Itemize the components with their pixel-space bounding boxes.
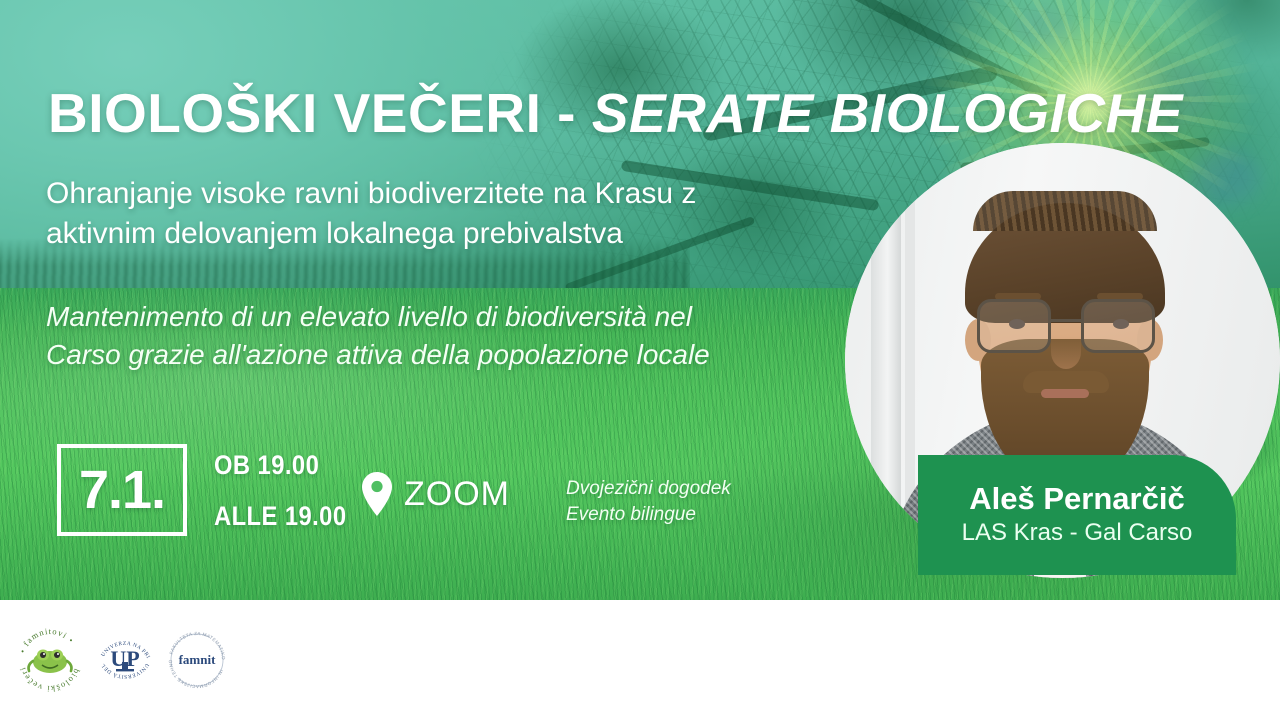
subtitle-slovenian-line-2: aktivnim delovanjem lokalnega prebivalst… — [46, 214, 846, 254]
portrait-glasses — [971, 299, 1161, 353]
bilingual-note: Dvojezični dogodek Evento bilingue — [566, 476, 731, 528]
subtitle-slovenian: Ohranjanje visoke ravni biodiverzitete n… — [46, 174, 846, 254]
event-time-italian: ALLE 19.00 — [214, 503, 346, 530]
speaker-organization: LAS Kras - Gal Carso — [962, 519, 1193, 548]
event-date-box: 7.1. — [57, 444, 187, 536]
footer-partner-logos: • famnitovi • biološki večeri — [14, 622, 224, 698]
glasses-lens-right — [1081, 299, 1155, 353]
famnitovi-bioloski-veceri-logo: • famnitovi • biološki večeri — [14, 624, 86, 696]
bilingual-note-slovenian: Dvojezični dogodek — [566, 476, 731, 502]
subtitle-slovenian-line-1: Ohranjanje visoke ravni biodiverzitete n… — [46, 174, 846, 214]
event-time-slovenian: OB 19.00 — [214, 452, 346, 479]
title-italian: SERATE BIOLOGICHE — [592, 82, 1183, 144]
speaker-name-panel: Aleš Pernarčič LAS Kras - Gal Carso — [918, 455, 1236, 575]
bilingual-note-italian: Evento bilingue — [566, 502, 731, 528]
footer-bar: • famnitovi • biološki večeri — [0, 600, 1280, 720]
univerza-na-primorskem-logo: UNIVERZA NA PRIMORSKEM UNIVERSITÀ DEL LI… — [94, 626, 156, 694]
svg-text:famnit: famnit — [179, 652, 217, 667]
famnit-logo: FAKULTETA ZA MATEMATIKO NARAVOSLOVJE IN … — [164, 627, 230, 693]
portrait-mouth — [1041, 389, 1089, 398]
event-times: OB 19.00 ALLE 19.00 — [214, 452, 365, 554]
glasses-lens-left — [977, 299, 1051, 353]
poster-title: BIOLOŠKI VEČERI - SERATE BIOLOGICHE — [48, 86, 1248, 141]
map-pin-icon — [362, 472, 392, 516]
glasses-bridge — [1051, 319, 1081, 322]
title-slovenian: BIOLOŠKI VEČERI - — [48, 82, 592, 144]
subtitle-italian-line-1: Mantenimento di un elevato livello di bi… — [46, 298, 846, 336]
svg-text:• famnitovi •: • famnitovi • — [17, 626, 76, 654]
subtitle-italian-line-2: Carso grazie all'azione attiva della pop… — [46, 336, 846, 374]
portrait-doorframe — [871, 143, 901, 578]
event-location-label: ZOOM — [404, 475, 510, 514]
event-poster: BIOLOŠKI VEČERI - SERATE BIOLOGICHE Ohra… — [0, 0, 1280, 720]
subtitle-italian: Mantenimento di un elevato livello di bi… — [46, 298, 846, 374]
speaker-name: Aleš Pernarčič — [969, 482, 1184, 517]
event-date: 7.1. — [79, 463, 165, 517]
event-location: ZOOM — [362, 472, 510, 516]
